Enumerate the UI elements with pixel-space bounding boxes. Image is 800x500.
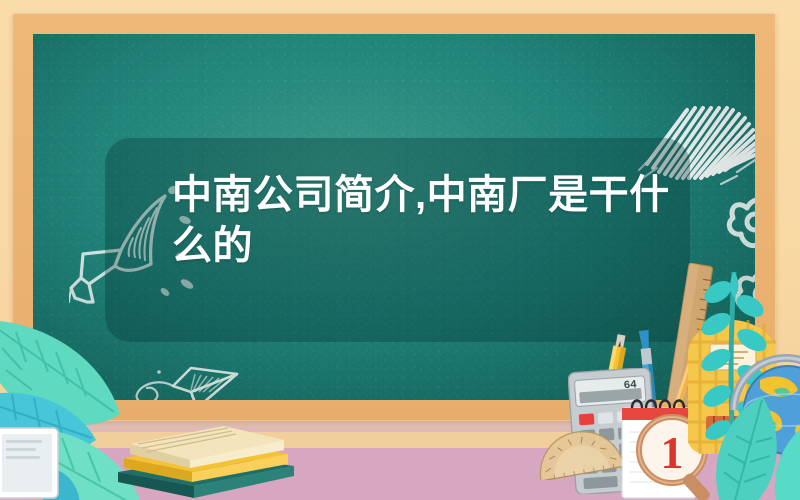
book-stack [108, 410, 298, 500]
tablet-device [0, 426, 66, 500]
leaves-decoration [690, 388, 800, 500]
page-title: 中南公司简介,中南厂是干什么的 [172, 170, 672, 272]
svg-text:64: 64 [623, 379, 637, 392]
cover-image: 中南公司简介,中南厂是干什么的 [0, 0, 800, 500]
